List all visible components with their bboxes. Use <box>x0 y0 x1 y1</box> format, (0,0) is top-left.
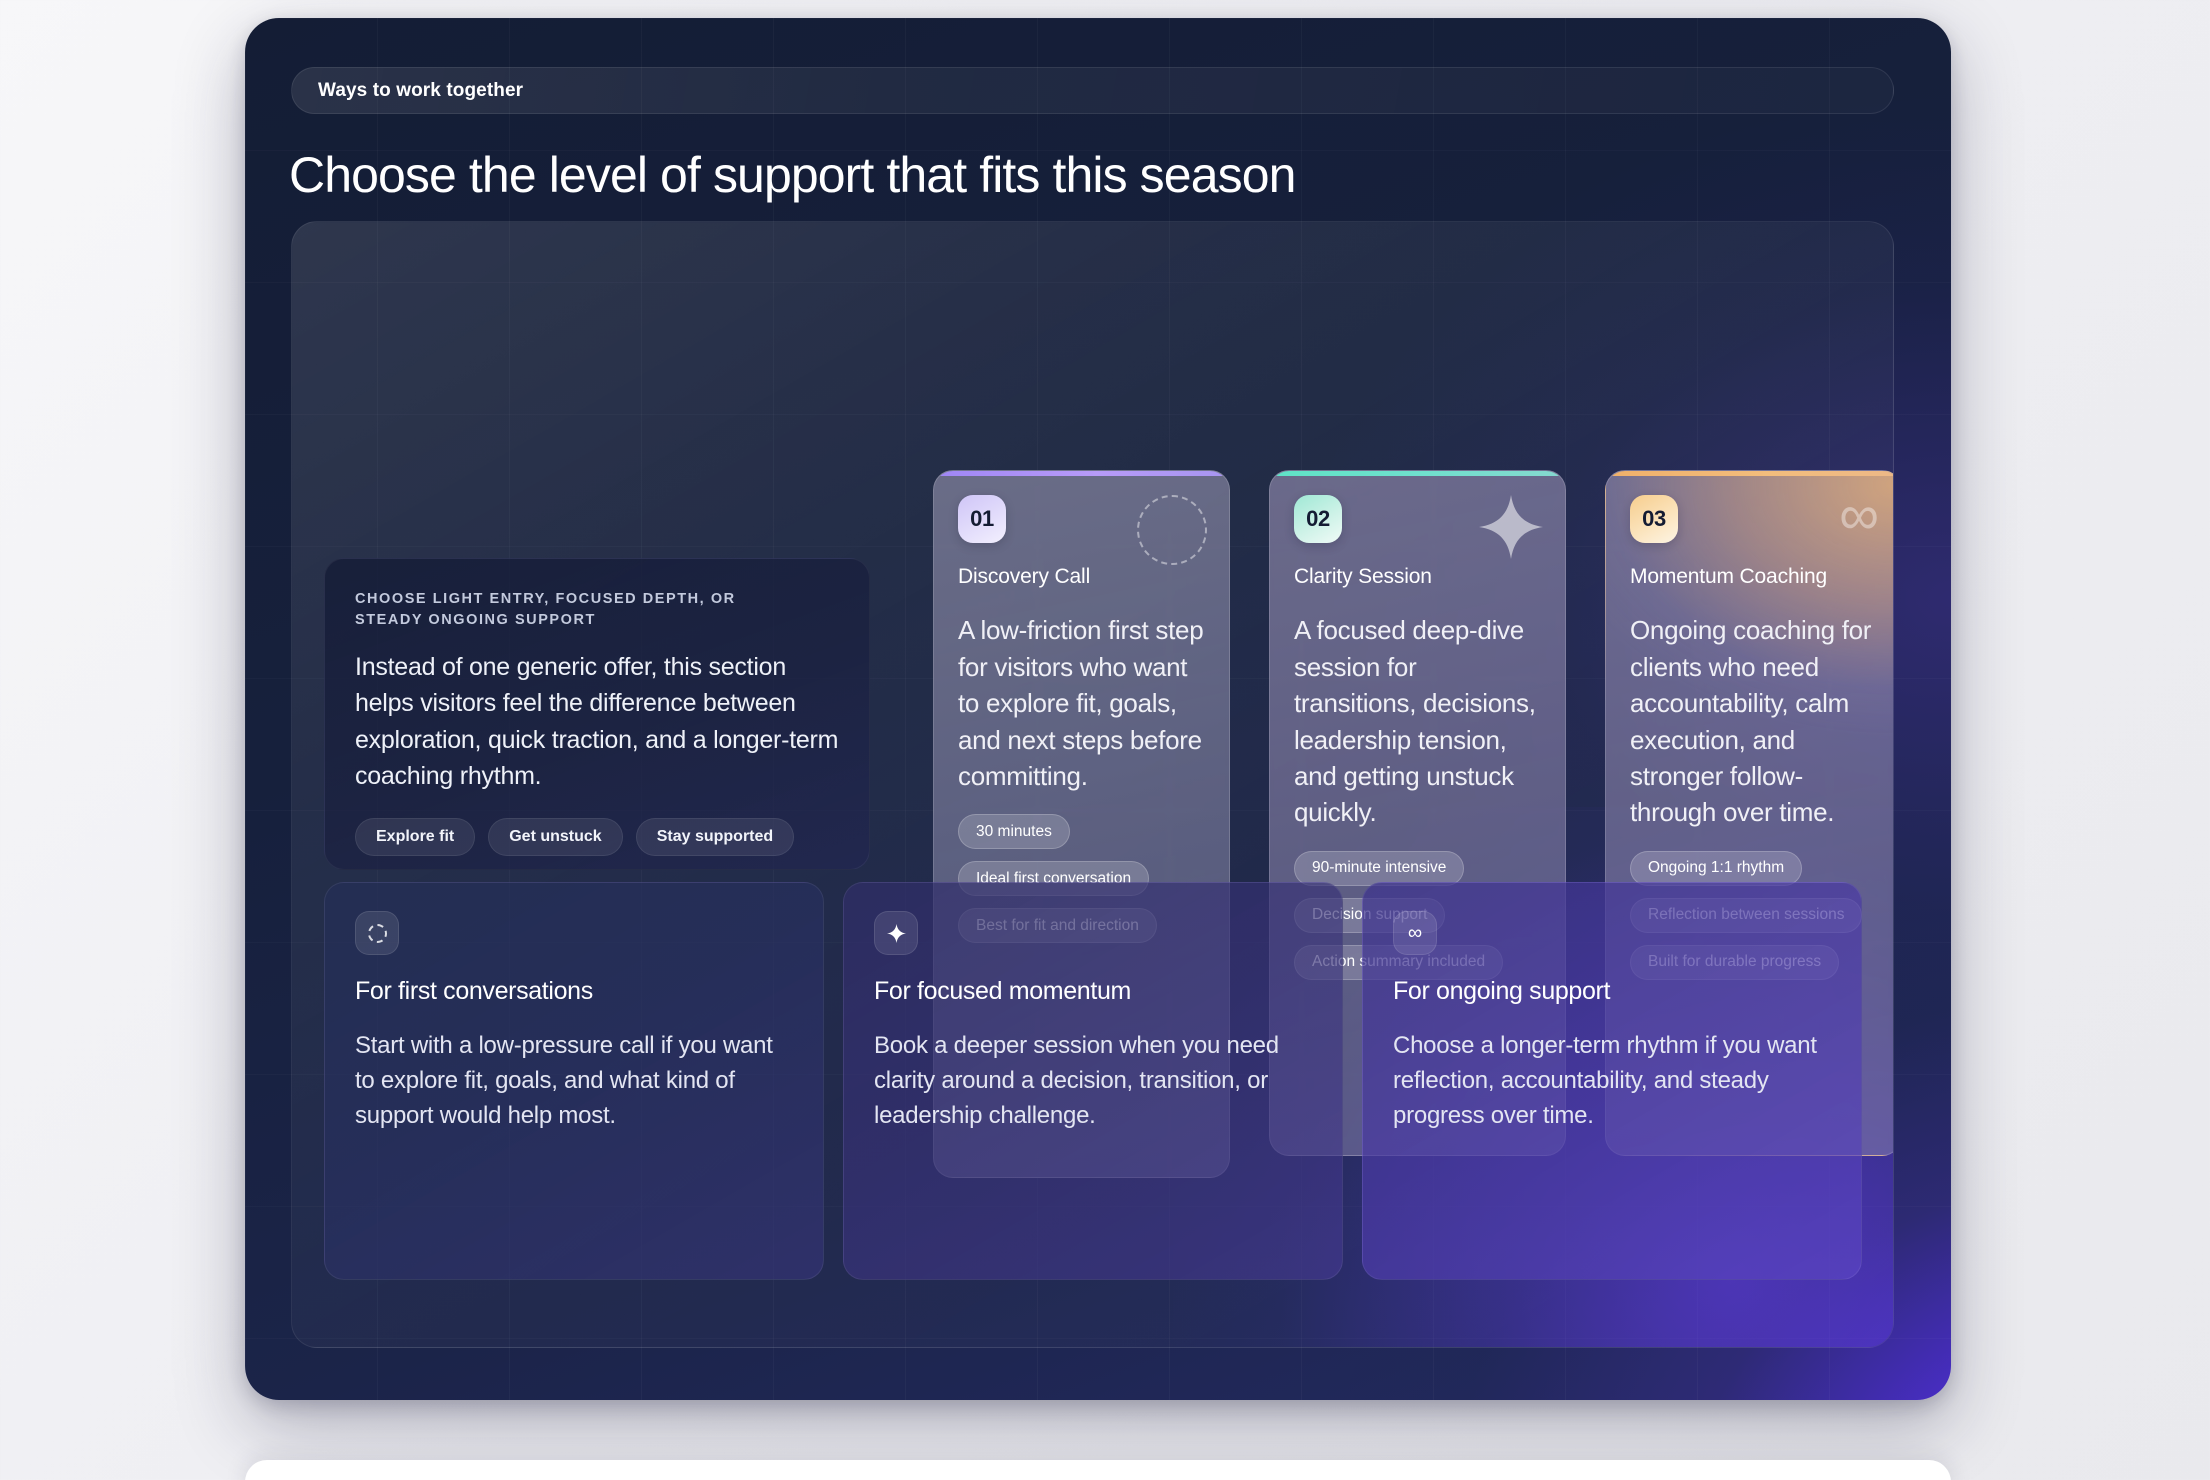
sparkle-icon <box>874 911 918 955</box>
guidance-tile-focused-momentum[interactable]: For focused momentum Book a deeper sessi… <box>843 882 1343 1280</box>
offer-body: A focused deep-dive session for transiti… <box>1294 612 1541 830</box>
guidance-tile-title: For ongoing support <box>1393 977 1831 1006</box>
dashed-circle-icon <box>1137 495 1207 565</box>
dashed-circle-icon <box>355 911 399 955</box>
offer-number-badge: 02 <box>1294 495 1342 543</box>
guidance-tile-ongoing-support[interactable]: ∞ For ongoing support Choose a longer-te… <box>1362 882 1862 1280</box>
offer-chip: 90-minute intensive <box>1294 851 1464 886</box>
guidance-tile-body: Book a deeper session when you need clar… <box>874 1029 1312 1133</box>
guidance-tile-body: Choose a longer-term rhythm if you want … <box>1393 1029 1831 1133</box>
offer-body: Ongoing coaching for clients who need ac… <box>1630 612 1877 830</box>
guidance-tile-title: For first conversations <box>355 977 793 1006</box>
intro-tag-stay-supported[interactable]: Stay supported <box>636 818 794 856</box>
offer-title: Momentum Coaching <box>1630 564 1877 590</box>
guidance-tile-body: Start with a low-pressure call if you wa… <box>355 1029 793 1133</box>
infinity-icon: ∞ <box>1839 495 1879 535</box>
offer-title: Clarity Session <box>1294 564 1541 590</box>
offer-chip: Ongoing 1:1 rhythm <box>1630 851 1802 886</box>
sparkle-icon <box>1479 495 1543 564</box>
intro-tag-get-unstuck[interactable]: Get unstuck <box>488 818 622 856</box>
offers-panel: Choose light entry, focused depth, or st… <box>291 221 1894 1348</box>
section-eyebrow-bar: Ways to work together <box>291 67 1894 114</box>
next-section-sliver <box>245 1460 1951 1480</box>
device-frame: Ways to work together Choose the level o… <box>245 18 1951 1400</box>
offer-number-badge: 01 <box>958 495 1006 543</box>
infinity-icon: ∞ <box>1393 911 1437 955</box>
offer-title: Discovery Call <box>958 564 1205 590</box>
intro-tag-list: Explore fit Get unstuck Stay supported <box>355 818 839 856</box>
intro-tag-explore-fit[interactable]: Explore fit <box>355 818 475 856</box>
guidance-tile-first-conversations[interactable]: For first conversations Start with a low… <box>324 882 824 1280</box>
intro-body: Instead of one generic offer, this secti… <box>355 649 839 794</box>
page-title: Choose the level of support that fits th… <box>289 146 1296 204</box>
guidance-tile-title: For focused momentum <box>874 977 1312 1006</box>
section-eyebrow-label: Ways to work together <box>318 80 523 102</box>
offer-body: A low-friction first step for visitors w… <box>958 612 1205 794</box>
offer-chip: 30 minutes <box>958 814 1070 849</box>
intro-kicker: Choose light entry, focused depth, or st… <box>355 589 805 630</box>
offer-number-badge: 03 <box>1630 495 1678 543</box>
intro-card: Choose light entry, focused depth, or st… <box>324 558 870 870</box>
